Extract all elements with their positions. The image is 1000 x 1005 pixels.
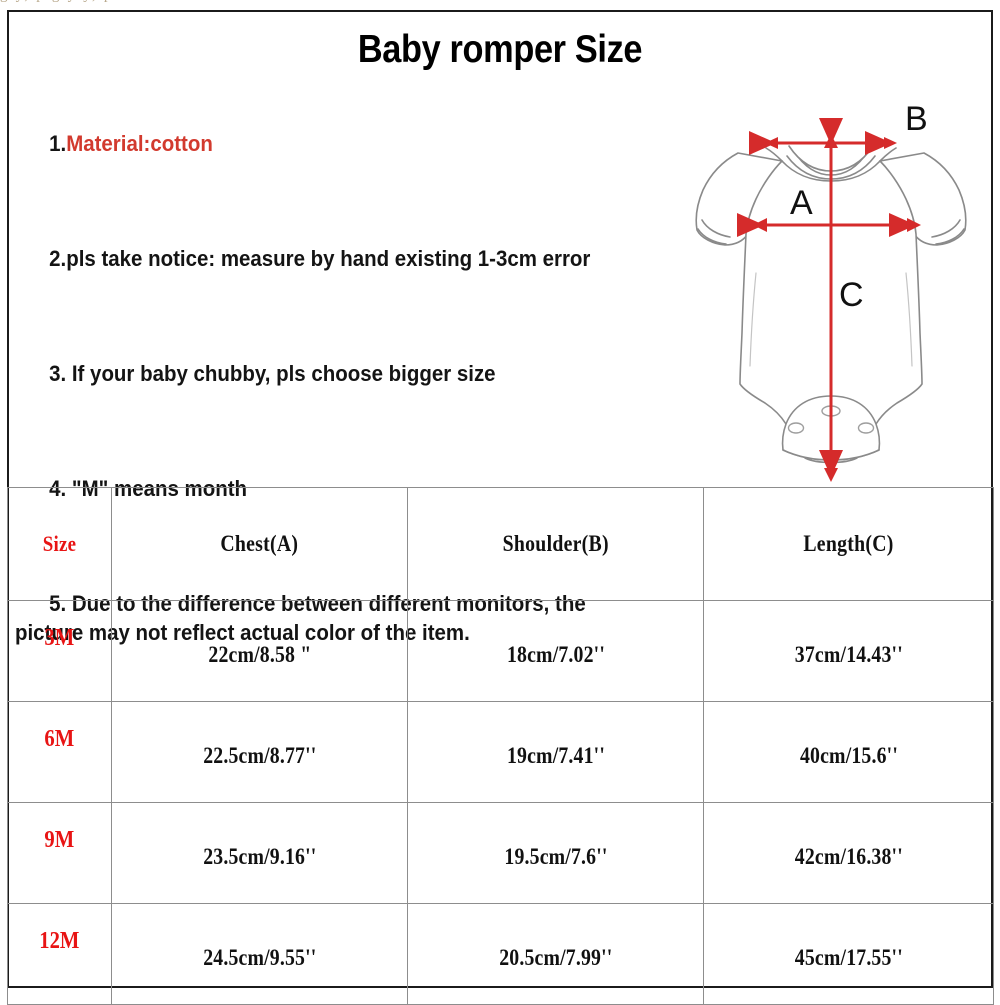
length-label: C [839, 276, 864, 314]
table-row: 12M 24.5cm/9.55'' 20.5cm/7.99'' 45cm/17.… [8, 904, 994, 1005]
cell-chest: 24.5cm/9.55'' [112, 904, 408, 1005]
cell-length: 45cm/17.55'' [704, 904, 994, 1005]
cell-shoulder: 18cm/7.02'' [408, 601, 704, 702]
table-row: 3M 22cm/8.58 " 18cm/7.02'' 37cm/14.43'' [8, 601, 994, 702]
cell-chest: 22.5cm/8.77'' [112, 702, 408, 803]
column-header-length: Length(C) [704, 488, 994, 601]
cell-size: 6M [8, 702, 112, 803]
cell-size: 3M [8, 601, 112, 702]
table-row: 6M 22.5cm/8.77'' 19cm/7.41'' 40cm/15.6'' [8, 702, 994, 803]
chest-label: A [790, 184, 813, 222]
cell-shoulder: 19.5cm/7.6'' [408, 803, 704, 904]
column-header-size: Size [8, 488, 112, 601]
cell-size: 9M [8, 803, 112, 904]
cell-length: 42cm/16.38'' [704, 803, 994, 904]
romper-diagram: B A C [681, 98, 981, 488]
note-item: 3. If your baby chubby, pls choose bigge… [15, 330, 620, 417]
shoulder-label: B [905, 100, 928, 138]
column-header-chest: Chest(A) [112, 488, 408, 601]
cell-length: 40cm/15.6'' [704, 702, 994, 803]
note-text: If your baby chubby, pls choose bigger s… [66, 361, 495, 386]
size-table: Size Chest(A) Shoulder(B) Length(C) 3M 2… [7, 487, 994, 1005]
note-text: Material:cotton [66, 131, 213, 156]
note-item: 2.pls take notice: measure by hand exist… [15, 215, 620, 302]
note-item: 1.Material:cotton [15, 100, 620, 187]
column-header-shoulder: Shoulder(B) [408, 488, 704, 601]
cell-chest: 22cm/8.58 " [112, 601, 408, 702]
page-title: Baby romper Size [68, 28, 932, 72]
cell-shoulder: 20.5cm/7.99'' [408, 904, 704, 1005]
top-text-artifact: g y, p g y y, p [0, 0, 1000, 9]
cell-shoulder: 19cm/7.41'' [408, 702, 704, 803]
cell-length: 37cm/14.43'' [704, 601, 994, 702]
cell-size: 12M [8, 904, 112, 1005]
note-number: 3. [49, 361, 66, 386]
table-row: 9M 23.5cm/9.16'' 19.5cm/7.6'' 42cm/16.38… [8, 803, 994, 904]
table-header-row: Size Chest(A) Shoulder(B) Length(C) [8, 488, 994, 601]
note-number: 2. [49, 246, 66, 271]
note-number: 1. [49, 131, 66, 156]
note-text: pls take notice: measure by hand existin… [66, 246, 590, 271]
cell-chest: 23.5cm/9.16'' [112, 803, 408, 904]
size-chart-card: Baby romper Size 1.Material:cotton 2.pls… [7, 10, 993, 988]
